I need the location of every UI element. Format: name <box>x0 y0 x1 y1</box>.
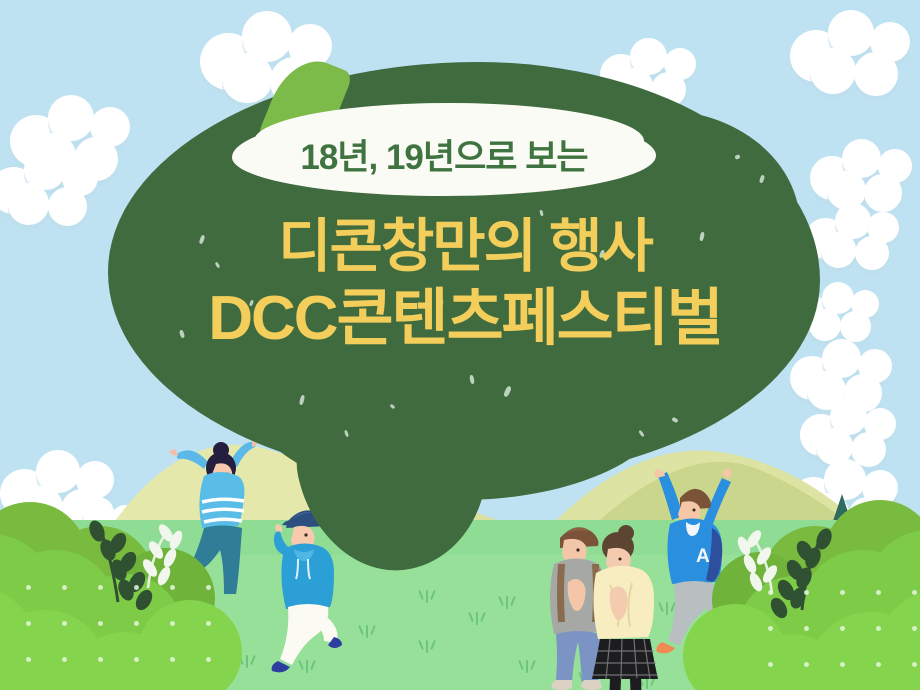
bush-dot <box>804 590 809 595</box>
bush-dot <box>98 621 103 626</box>
title-line-1: 디콘창만의 행사 <box>110 215 820 280</box>
bush-cluster-left <box>0 502 242 690</box>
bush-dot <box>912 662 917 667</box>
bush-dot <box>62 621 67 626</box>
bush-dot <box>26 585 31 590</box>
bush-dot <box>804 662 809 667</box>
bush-dot <box>98 657 103 662</box>
bush-dot <box>876 662 881 667</box>
bush-dot <box>170 585 175 590</box>
bush-dot <box>768 590 773 595</box>
bush-dot <box>206 621 211 626</box>
bush-dot <box>206 657 211 662</box>
subtitle-text: 18년, 19년으로 보는 <box>232 116 656 192</box>
bush-dot <box>768 626 773 631</box>
bush-dot <box>26 657 31 662</box>
bush-dot <box>876 626 881 631</box>
bush-dot <box>206 585 211 590</box>
bush-dot <box>804 626 809 631</box>
bush-dot <box>26 621 31 626</box>
bush-dot <box>134 657 139 662</box>
bush-dot <box>768 662 773 667</box>
bush-dot <box>134 621 139 626</box>
bush-dot <box>98 585 103 590</box>
bush-dot <box>912 626 917 631</box>
title-block: 디콘창만의 행사 DCC콘텐츠페스티벌 <box>110 215 820 353</box>
bush-dot <box>840 590 845 595</box>
bush-dot <box>912 590 917 595</box>
bush-dot <box>62 657 67 662</box>
bush-dot <box>62 585 67 590</box>
bush-dot <box>134 585 139 590</box>
poster-canvas: A <box>0 0 920 690</box>
title-line-2: DCC콘텐츠페스티벌 <box>110 284 820 353</box>
bush-dot <box>170 621 175 626</box>
bush-dot <box>840 626 845 631</box>
bush-dot <box>170 657 175 662</box>
bush-dot <box>840 662 845 667</box>
bush-dot <box>876 590 881 595</box>
